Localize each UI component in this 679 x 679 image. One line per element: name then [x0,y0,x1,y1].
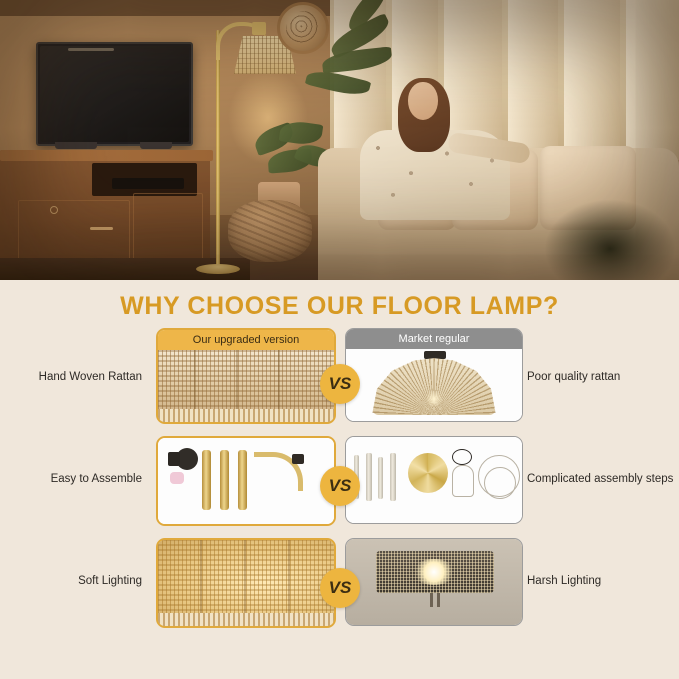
row-label-left: Easy to Assemble [0,428,150,530]
shade-wire-ring [484,467,516,499]
shade-fitter-cap [424,351,446,359]
row-label-right: Complicated assembly steps [517,428,679,530]
pole-part [390,453,396,501]
weave-seam [244,540,246,613]
row-label-right: Poor quality rattan [517,326,679,428]
pole-segment [202,450,211,510]
comparison-row: Easy to Assemble [0,428,679,530]
market-image-complicated-assembly [346,437,522,523]
photo-vignette [0,0,679,280]
pole-part [366,453,372,501]
dimmer-switch [170,472,184,484]
harp-frame [452,465,474,497]
lamp-socket [292,454,304,464]
comparison-row: Hand Woven Rattan Our upgraded version M… [0,326,679,428]
harsh-bulb-hotspot [412,559,456,585]
hero-lifestyle-photo [0,0,679,280]
cord-bundle [452,449,472,465]
ours-panel-soft-lighting [156,538,336,628]
bulb-glow [425,391,443,407]
market-panel-rattan: Market regular [345,328,523,422]
dark-mesh-drum-shade [376,551,494,593]
ours-column-header: Our upgraded version [158,330,334,350]
market-image-poor-rattan [346,349,522,421]
lamp-stem [430,593,433,607]
rattan-fringe [158,613,334,626]
weave-seam [288,540,290,613]
gold-disc-base [408,453,448,493]
row-label-left: Soft Lighting [0,530,150,632]
pole-part [378,457,383,499]
comparison-row: Soft Lighting [0,530,679,632]
page-title: WHY CHOOSE OUR FLOOR LAMP? [0,292,679,321]
product-comparison-infographic: WHY CHOOSE OUR FLOOR LAMP? Hand Woven Ra… [0,0,679,679]
market-image-harsh-lighting [346,539,522,625]
vs-badge: VS [320,466,360,506]
weave-seam [236,350,238,409]
comparison-section: WHY CHOOSE OUR FLOOR LAMP? Hand Woven Ra… [0,280,679,679]
ours-image-soft-lighting [158,540,334,626]
row-label-left: Hand Woven Rattan [0,326,150,428]
plug [168,452,180,466]
row-label-right: Harsh Lighting [517,530,679,632]
comparison-rows: Hand Woven Rattan Our upgraded version M… [0,326,679,632]
vs-badge: VS [320,364,360,404]
weave-seam [200,540,202,613]
weave-seam [278,350,280,409]
market-column-header: Market regular [346,329,522,349]
market-panel-assembly [345,436,523,524]
pole-segment [220,450,229,510]
market-panel-harsh-lighting [345,538,523,626]
ours-image-hand-woven-rattan [158,350,334,422]
rattan-fringe [158,409,334,422]
ours-panel-assembly [156,436,336,526]
lamp-stem [437,593,440,607]
ours-panel-rattan: Our upgraded version [156,328,336,424]
pole-segment [238,450,247,510]
vs-badge: VS [320,568,360,608]
ours-image-easy-assembly [158,438,334,524]
weave-seam [194,350,196,409]
